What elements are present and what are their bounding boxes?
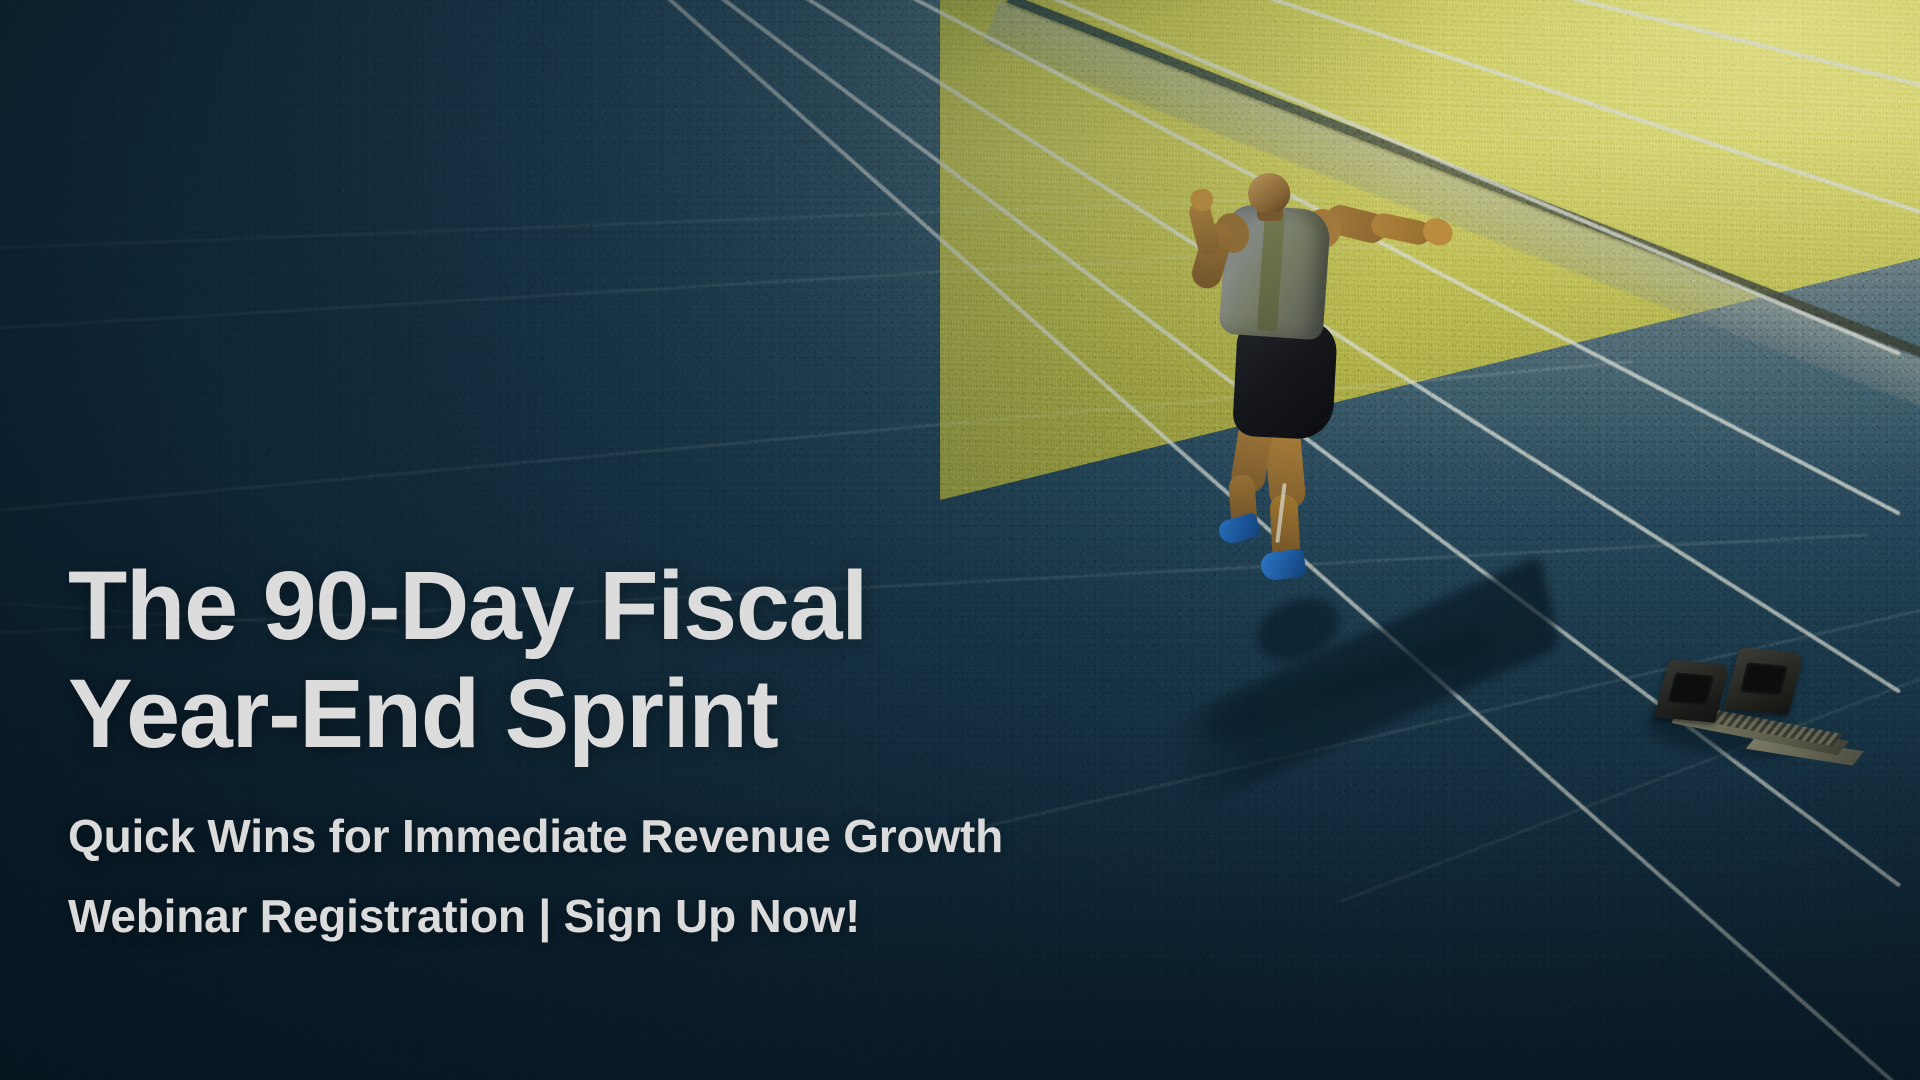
headline-line-2: Year-End Sprint [68,659,778,768]
cta-registration-link[interactable]: Webinar Registration | Sign Up Now! [68,889,1248,943]
page-title: The 90-Day FiscalYear-End Sprint [68,552,1248,767]
subheadline: Quick Wins for Immediate Revenue Growth [68,809,1248,863]
hero-banner: The 90-Day FiscalYear-End Sprint Quick W… [0,0,1920,1080]
headline-line-1: The 90-Day Fiscal [68,551,867,660]
banner-text-block: The 90-Day FiscalYear-End Sprint Quick W… [68,552,1248,943]
